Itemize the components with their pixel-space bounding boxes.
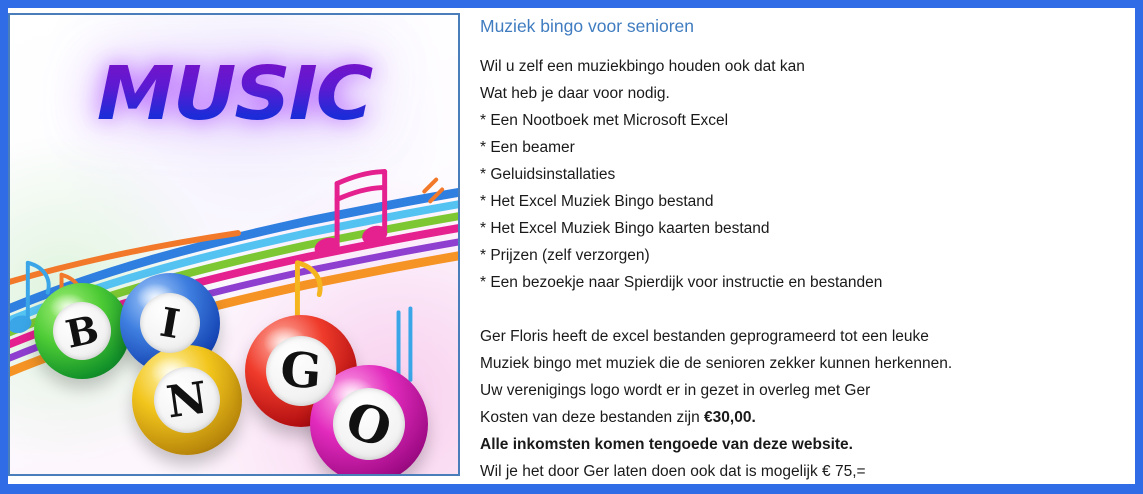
requirement-item: * Het Excel Muziek Bingo kaarten bestand [480,215,1121,242]
price-line: Kosten van deze bestanden zijn €30,00. [480,404,1121,431]
illustration-pane: MUSIC B I N G O [8,8,463,484]
closing-line: Ger Floris heeft de excel bestanden gepr… [480,323,1121,350]
requirement-item: * Een bezoekje naar Spierdijk voor instr… [480,269,1121,296]
bingo-ball-b: B [34,283,130,379]
intro-line: Wil u zelf een muziekbingo houden ook da… [480,53,1121,80]
intro-line: Wat heb je daar voor nodig. [480,80,1121,107]
bingo-ball-n: N [132,345,242,455]
requirement-item: * Een Nootboek met Microsoft Excel [480,107,1121,134]
service-offer-line: Wil je het door Ger laten doen ook dat i… [480,458,1121,484]
requirement-item: * Het Excel Muziek Bingo bestand [480,188,1121,215]
requirement-item: * Prijzen (zelf verzorgen) [480,242,1121,269]
revenue-notice: Alle inkomsten komen tengoede van deze w… [480,431,1121,458]
article-pane: Muziek bingo voor senioren Wil u zelf ee… [463,8,1135,484]
page-frame: MUSIC B I N G O Muzi [0,0,1143,494]
closing-line: Uw verenigings logo wordt er in gezet in… [480,377,1121,404]
bingo-ball-n-letter: N [150,363,225,438]
bingo-ball-b-letter: B [48,297,117,366]
price-line-prefix: Kosten van deze bestanden zijn [480,409,704,426]
music-wordmark: MUSIC [8,57,460,131]
requirement-item: * Een beamer [480,134,1121,161]
closing-line: Muziek bingo met muziek die de senioren … [480,350,1121,377]
paragraph-gap [480,296,1121,323]
requirement-item: * Geluidsinstallaties [480,161,1121,188]
music-bingo-image[interactable]: MUSIC B I N G O [8,13,460,476]
bingo-ball-o-letter: O [324,379,415,470]
page-content: MUSIC B I N G O Muzi [8,8,1135,484]
price-amount: €30,00. [704,409,756,426]
page-title: Muziek bingo voor senioren [480,15,1121,37]
